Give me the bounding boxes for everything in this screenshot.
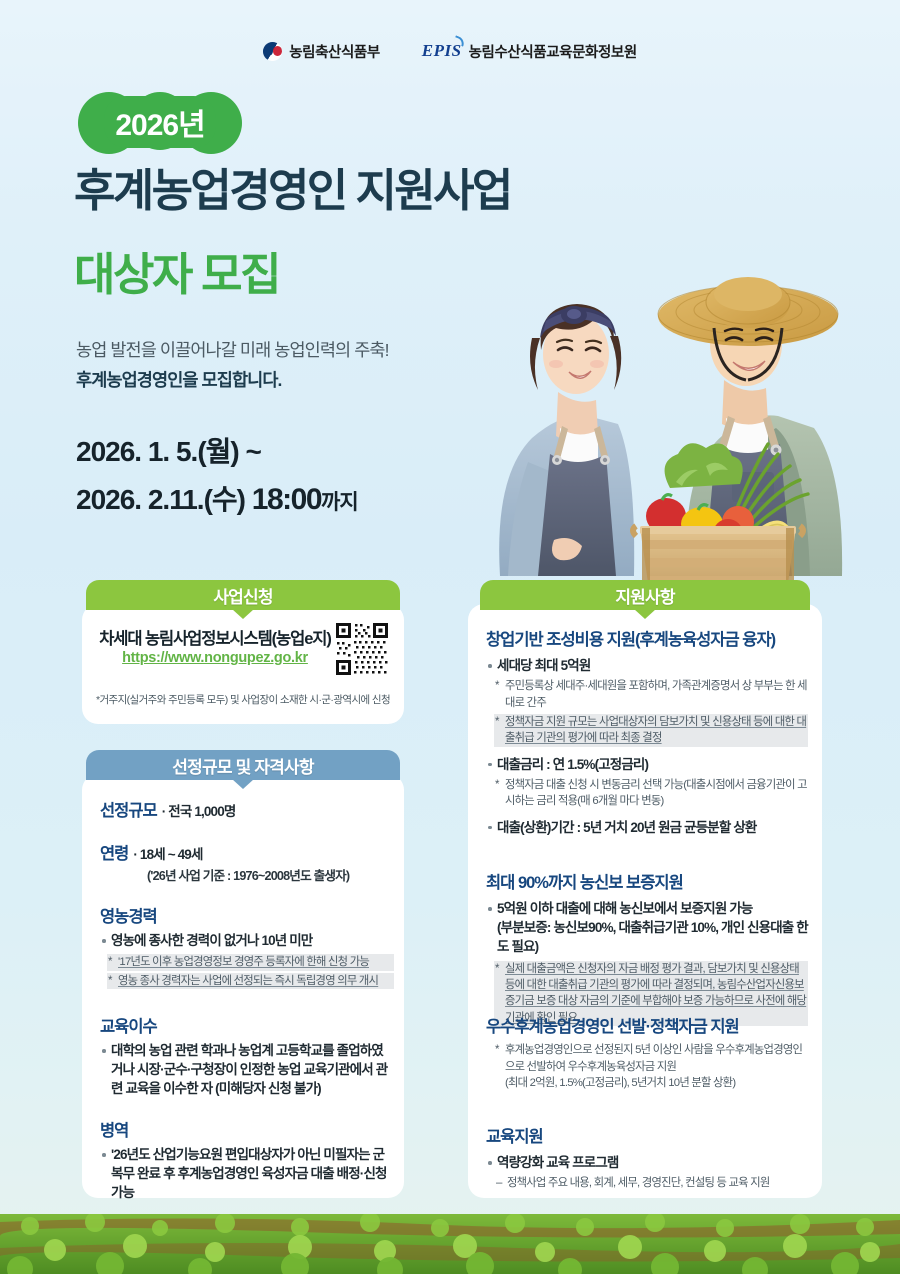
crop-field-photo-strip xyxy=(0,1214,900,1274)
farmers-photo xyxy=(470,276,870,596)
eligibility-block-scale: 선정규모 · 전국 1,000명 xyxy=(100,800,392,820)
training-heading: 교육지원 xyxy=(486,1128,808,1146)
experience-note-2: 영농 종사 경력자는 사업에 선정되는 즉시 독립경영 의무 개시 xyxy=(107,973,394,989)
experience-item: 영농에 종사한 경력이 없거나 10년 미만 xyxy=(100,931,394,950)
epis-logo-unit: EPIS 농림수산식품교육문화정보원 xyxy=(422,41,637,62)
epis-wordmark-icon: EPIS xyxy=(422,41,462,61)
startup-row-5: 대출(상환)기간 : 5년 거치 20년 원금 균등분할 상환 xyxy=(486,818,808,837)
support-block-guarantee: 최대 90%까지 농신보 보증지원 5억원 이하 대출에 대해 농신보에서 보증… xyxy=(486,874,808,1026)
end-time-text: 18:00 xyxy=(252,483,321,516)
apply-system-name: 차세대 농림사업정보시스템(농업e지) xyxy=(94,625,336,649)
excellent-row-0: 후계농업경영인으로 선정된지 5년 이상인 사람을 우수후계농업경영인으로 선발… xyxy=(494,1042,808,1075)
age-heading: 연령 xyxy=(100,845,128,863)
application-end-date: 2026. 2.11.(수) 18:00까지 xyxy=(76,478,358,518)
startup-row-0: 세대당 최대 5억원 xyxy=(486,656,808,675)
support-block-startup: 창업기반 조성비용 지원(후계농육성자금 융자) 세대당 최대 5억원 주민등록… xyxy=(486,631,808,837)
support-tab-label: 지원사항 xyxy=(615,583,674,608)
age-birth-years: ('26년 사업 기준 : 1976~2008년도 출생자) xyxy=(100,865,392,884)
excellent-heading: 우수후계농업경영인 선발·정책자금 지원 xyxy=(486,1018,808,1036)
guarantee-row-1: (부분보증: 농신보90%, 대출취급기관 10%, 개인 신용대출 한도 필요… xyxy=(486,918,808,956)
military-item: '26년도 산업기능요원 편입대상자가 아닌 미필자는 군 복무 완료 후 후계… xyxy=(100,1145,392,1202)
agency-logo-bar: 농림축산식품부 EPIS 농림수산식품교육문화정보원 xyxy=(0,34,900,68)
application-start-date: 2026. 1. 5.(월) ~ xyxy=(76,430,261,470)
ministry-name: 농림축산식품부 xyxy=(289,41,380,62)
taegeuk-emblem-icon xyxy=(263,42,282,61)
apply-card-body: 차세대 농림사업정보시스템(농업e지) https://www.nongupez… xyxy=(82,604,404,724)
eligibility-block-age: 연령 · 18세 ~ 49세 ('26년 사업 기준 : 1976~2008년도… xyxy=(100,843,392,884)
eligibility-tab-label: 선정규모 및 자격사항 xyxy=(172,753,313,778)
end-time-suffix: 까지 xyxy=(321,491,358,514)
eligibility-block-military: 병역 '26년도 산업기능요원 편입대상자가 아닌 미필자는 군 복무 완료 후… xyxy=(100,1122,392,1203)
startup-heading: 창업기반 조성비용 지원(후계농육성자금 융자) xyxy=(486,631,808,649)
military-heading: 병역 xyxy=(100,1122,392,1140)
training-row-0: 역량강화 교육 프로그램 xyxy=(486,1153,808,1172)
experience-heading: 영농경력 xyxy=(100,908,394,926)
eligibility-block-education: 교육이수 대학의 농업 관련 학과나 농업계 고등학교를 졸업하였거나 시장·군… xyxy=(100,1018,392,1099)
end-date-text: 2026. 2.11.(수) xyxy=(76,484,245,515)
scale-heading: 선정규모 xyxy=(100,802,157,820)
education-item: 대학의 농업 관련 학과나 농업계 고등학교를 졸업하였거나 시장·군수·구청장… xyxy=(100,1041,392,1098)
startup-row-3: 대출금리 : 연 1.5%(고정금리) xyxy=(486,755,808,774)
field-illustration-icon xyxy=(0,1214,900,1274)
education-heading: 교육이수 xyxy=(100,1018,392,1036)
guarantee-heading: 최대 90%까지 농신보 보증지원 xyxy=(486,874,808,892)
startup-row-2: 정책자금 지원 규모는 사업대상자의 담보가치 및 신용상태 등에 대한 대출취… xyxy=(494,714,808,747)
startup-row-4: 정책자금 대출 신청 시 변동금리 선택 가능(대출시점에서 금융기관이 고시하… xyxy=(494,777,808,810)
guarantee-row-2: 실제 대출금액은 신청자의 자금 배정 평가 결과, 담보가치 및 신용상태 등… xyxy=(494,961,808,1027)
qr-code[interactable] xyxy=(334,621,390,677)
support-block-excellent: 우수후계농업경영인 선발·정책자금 지원 후계농업경영인으로 선정된지 5년 이… xyxy=(486,1018,808,1091)
eligibility-block-experience: 영농경력 영농에 종사한 경력이 없거나 10년 미만 '17년도 이후 농업경… xyxy=(100,908,394,989)
year-badge-label: 2026년 xyxy=(76,92,244,154)
excellent-row-1: (최대 2억원, 1.5%(고정금리), 5년거치 10년 분할 상환) xyxy=(494,1075,808,1091)
experience-note-1: '17년도 이후 농업경영정보 경영주 등록자에 한해 신청 가능 xyxy=(107,954,394,970)
subtitle-line1: 농업 발전을 이끌어나갈 미래 농업인력의 주축! xyxy=(76,337,389,362)
qr-code-icon xyxy=(334,621,390,677)
page-title-line1: 후계농업경영인 지원사업 xyxy=(74,168,594,213)
training-row-1: 정책사업 주요 내용, 회계, 세무, 경영진단, 컨설팅 등 교육 지원 xyxy=(496,1175,808,1191)
support-section-tab: 지원사항 xyxy=(480,580,810,610)
scale-value: · 전국 1,000명 xyxy=(162,800,236,820)
farmers-illustration-icon xyxy=(470,276,870,596)
apply-url-link[interactable]: https://www.nongupez.go.kr xyxy=(94,650,336,666)
apply-residence-note: *거주지(실거주와 주민등록 모두) 및 사업장이 소재한 시·군·광역시에 신… xyxy=(82,692,404,707)
eligibility-section-tab: 선정규모 및 자격사항 xyxy=(86,750,400,780)
support-block-training: 교육지원 역량강화 교육 프로그램 정책사업 주요 내용, 회계, 세무, 경영… xyxy=(486,1128,808,1192)
year-badge: 2026년 xyxy=(76,92,244,154)
ministry-logo-unit: 농림축산식품부 xyxy=(263,41,380,62)
guarantee-row-0: 5억원 이하 대출에 대해 농신보에서 보증지원 가능 xyxy=(486,899,808,918)
subtitle-line2: 후계농업경영인을 모집합니다. xyxy=(76,367,282,392)
epis-name: 농림수산식품교육문화정보원 xyxy=(469,41,637,62)
age-value: · 18세 ~ 49세 xyxy=(133,843,202,863)
startup-row-1: 주민등록상 세대주·세대원을 포함하며, 가족관계증명서 상 부부는 한 세대로… xyxy=(494,678,808,711)
